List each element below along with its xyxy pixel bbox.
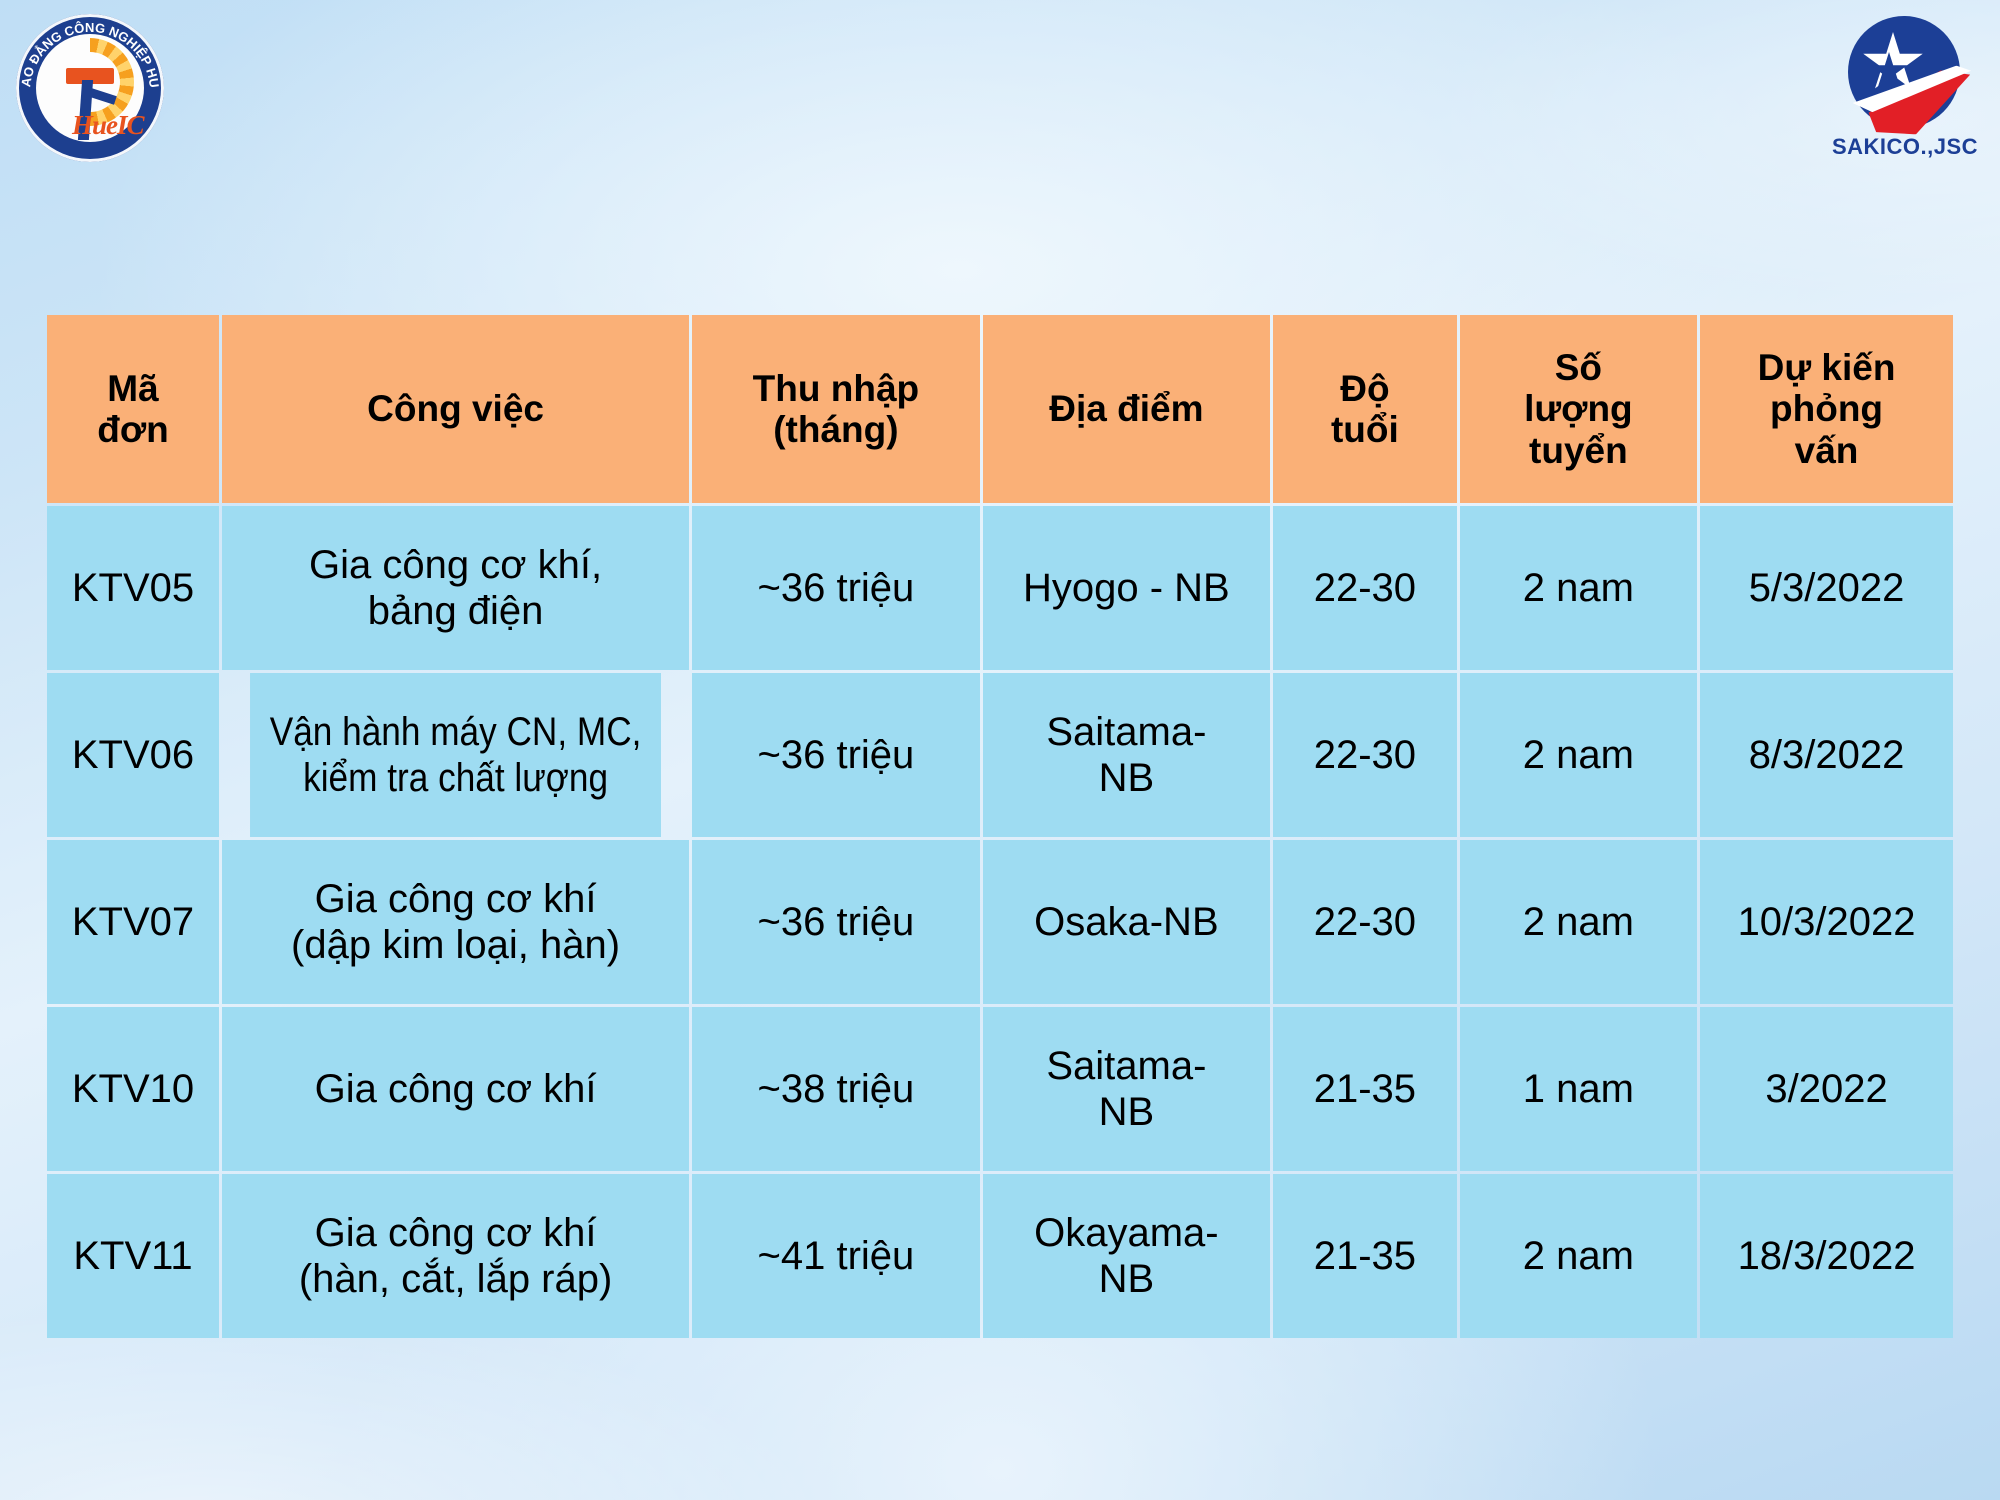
cell-thu-nhap: ~36 triệu: [692, 840, 979, 1004]
cell-cong-viec: Vận hành máy CN, MC,kiểm tra chất lượng: [250, 673, 661, 837]
cell-dia-diem: Okayama-NB: [983, 1174, 1270, 1338]
cell-do-tuoi: 21-35: [1273, 1174, 1457, 1338]
cell-cong-viec: Gia công cơ khí,bảng điện: [222, 506, 689, 670]
cell-cong-viec: Gia công cơ khí(hàn, cắt, lắp ráp): [222, 1174, 689, 1338]
cell-so-luong: 2 nam: [1460, 840, 1697, 1004]
cell-so-luong: 1 nam: [1460, 1007, 1697, 1171]
orders-table-container: Mãđơn Công việc Thu nhập(tháng) Địa điểm…: [44, 312, 1956, 1341]
cell-du-kien: 10/3/2022: [1700, 840, 1953, 1004]
cell-do-tuoi: 22-30: [1273, 673, 1457, 837]
column-header-dia-diem: Địa điểm: [983, 315, 1270, 503]
column-header-ma-don: Mãđơn: [47, 315, 219, 503]
cell-ma-don: KTV07: [47, 840, 219, 1004]
table-row: KTV10Gia công cơ khí~38 triệuSaitama-NB2…: [47, 1007, 1953, 1171]
table-body: KTV05Gia công cơ khí,bảng điện~36 triệuH…: [47, 506, 1953, 1338]
column-header-du-kien: Dự kiếnphỏngvấn: [1700, 315, 1953, 503]
cell-ma-don: KTV05: [47, 506, 219, 670]
cell-cong-viec: Gia công cơ khí: [222, 1007, 689, 1171]
table-header: Mãđơn Công việc Thu nhập(tháng) Địa điểm…: [47, 315, 1953, 503]
page-title: TỔNG HỢP ĐƠN HÀNG KỸ SƯ THÁNG 3/2022: [0, 72, 2000, 148]
cell-du-kien: 3/2022: [1700, 1007, 1953, 1171]
cell-du-kien: 8/3/2022: [1700, 673, 1953, 837]
table-row: KTV11Gia công cơ khí(hàn, cắt, lắp ráp)~…: [47, 1174, 1953, 1338]
cell-thu-nhap: ~36 triệu: [692, 673, 979, 837]
cell-do-tuoi: 22-30: [1273, 506, 1457, 670]
cell-du-kien: 18/3/2022: [1700, 1174, 1953, 1338]
table-row: KTV07Gia công cơ khí(dập kim loại, hàn)~…: [47, 840, 1953, 1004]
cell-so-luong: 2 nam: [1460, 506, 1697, 670]
table-row: KTV05Gia công cơ khí,bảng điện~36 triệuH…: [47, 506, 1953, 670]
slide-canvas: CAO ĐẲNG CÔNG NGHIỆP HUẾ HueIC SAKICO.,J…: [0, 0, 2000, 1500]
column-header-cong-viec: Công việc: [222, 315, 689, 503]
cell-dia-diem: Hyogo - NB: [983, 506, 1270, 670]
cell-so-luong: 2 nam: [1460, 673, 1697, 837]
cell-do-tuoi: 21-35: [1273, 1007, 1457, 1171]
cell-dia-diem: Osaka-NB: [983, 840, 1270, 1004]
table-header-row: Mãđơn Công việc Thu nhập(tháng) Địa điểm…: [47, 315, 1953, 503]
cell-ma-don: KTV10: [47, 1007, 219, 1171]
cell-thu-nhap: ~41 triệu: [692, 1174, 979, 1338]
cell-do-tuoi: 22-30: [1273, 840, 1457, 1004]
cell-ma-don: KTV06: [47, 673, 219, 837]
column-header-do-tuoi: Độtuổi: [1273, 315, 1457, 503]
cell-thu-nhap: ~36 triệu: [692, 506, 979, 670]
cell-dia-diem: Saitama-NB: [983, 1007, 1270, 1171]
column-header-thu-nhap: Thu nhập(tháng): [692, 315, 979, 503]
cell-du-kien: 5/3/2022: [1700, 506, 1953, 670]
cell-so-luong: 2 nam: [1460, 1174, 1697, 1338]
cell-thu-nhap: ~38 triệu: [692, 1007, 979, 1171]
orders-table: Mãđơn Công việc Thu nhập(tháng) Địa điểm…: [44, 312, 1956, 1341]
column-header-so-luong: Sốlượngtuyển: [1460, 315, 1697, 503]
cell-ma-don: KTV11: [47, 1174, 219, 1338]
cell-cong-viec: Gia công cơ khí(dập kim loại, hàn): [222, 840, 689, 1004]
table-row: KTV06Vận hành máy CN, MC,kiểm tra chất l…: [47, 673, 1953, 837]
cell-dia-diem: Saitama-NB: [983, 673, 1270, 837]
